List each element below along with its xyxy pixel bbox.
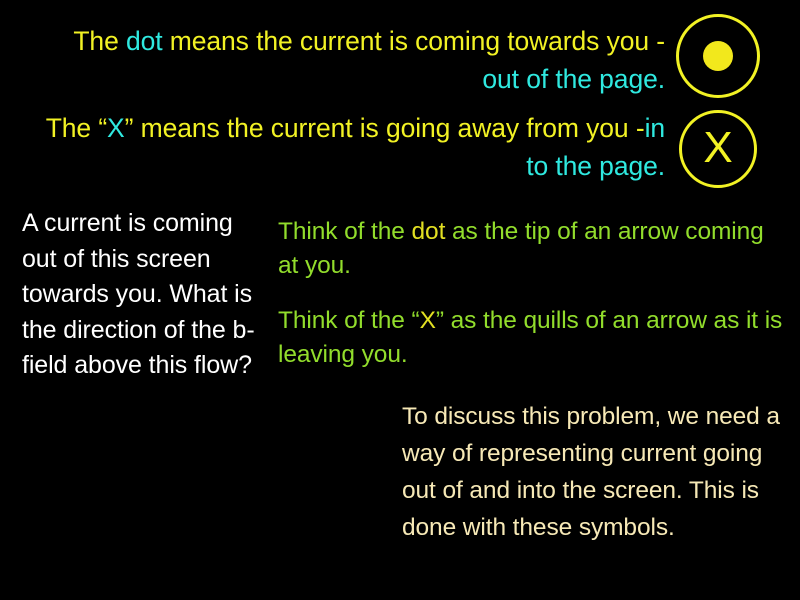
definition-dot-text-part3: out of the page. [482,64,665,94]
explanation-x-part1: Think of the “ [278,307,420,334]
explanations-block: Think of the dot as the tip of an arrow … [278,215,783,372]
note-text: To discuss this problem, we need a way o… [402,398,794,546]
dot-symbol-badge [676,14,760,98]
question-text: A current is coming out of this screen t… [22,206,260,384]
symbol-legend: X [676,14,768,188]
explanation-x: Think of the “X” as the quills of an arr… [278,304,783,372]
definition-dot-text-part1: The [73,26,126,56]
slide-canvas: The dot means the current is coming towa… [0,0,800,600]
definition-x-line: The “X” means the current is going away … [40,109,665,185]
explanation-dot-keyword: dot [412,218,446,245]
x-icon: X [682,113,754,185]
definitions-block: The dot means the current is coming towa… [40,22,665,185]
definition-dot-line: The dot means the current is coming towa… [40,22,665,98]
explanation-dot: Think of the dot as the tip of an arrow … [278,215,783,283]
x-symbol-badge: X [679,110,757,188]
definition-x-keyword: X [107,113,125,143]
dot-icon [703,41,733,71]
explanation-dot-part1: Think of the [278,218,412,245]
explanation-x-keyword: X [420,307,436,334]
definition-x-text-part2: ” means the current is going away from y… [125,113,645,143]
definition-dot-text-part2: means the current is coming towards you … [163,26,665,56]
definition-x-text-part1: The “ [46,113,107,143]
definition-dot-keyword: dot [126,26,163,56]
